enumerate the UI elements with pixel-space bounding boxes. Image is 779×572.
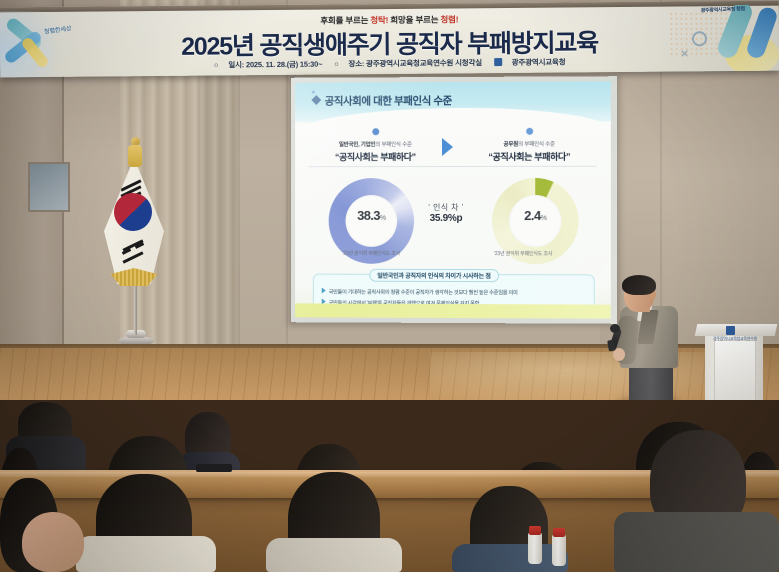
slide-note-bullet-1-text: 국민들이 기대하는 공직사회의 청렴 수준이 공직자가 생각하는 것보다 훨씬 … (329, 290, 518, 297)
donut-value-unit-left: % (380, 215, 386, 222)
right-column-subtitle: 공무원의 부패인식 수준 (454, 140, 605, 148)
donut-value-number-left: 38.3 (357, 208, 380, 223)
flag-tassel (128, 145, 142, 167)
slide-title: 공직사회에 대한 부패인식 수준 (325, 93, 452, 108)
banner-bullet-icon: ○ (334, 59, 338, 68)
bottle-cap-icon (529, 526, 541, 535)
perception-gap-block: ‘ 인식 차 ’ 35.9%p (416, 202, 476, 224)
perception-gap-label: ‘ 인식 차 ’ (416, 202, 476, 213)
event-banner: 청렴한세상 ✕ 광주광역시교육청 청렴 후회를 부르는 청탁! 희망을 부르는 … (0, 1, 779, 78)
presentation-slide: 공직사회에 대한 부패인식 수준 일반국민, 기업인의 부패인식 수준 “공직사… (295, 81, 611, 318)
dot-icon (526, 128, 533, 135)
presenter-hair (622, 275, 656, 295)
audience-person-body-front (76, 536, 216, 572)
audience-person-hand-front (22, 512, 84, 572)
microphone-head-icon (610, 324, 620, 333)
banner-organizer: 광주광역시교육청 (512, 57, 566, 66)
slide-column-right: 공무원의 부패인식 수준 “공직사회는 부패하다” (454, 128, 605, 163)
water-bottle (528, 532, 542, 564)
organization-logo-icon (494, 58, 502, 66)
donut-caption-right: '23년 권익위 부패인식도 조사 (458, 250, 589, 257)
greater-than-arrow-icon (442, 138, 453, 156)
banner-bullet-icon: ○ (214, 60, 218, 69)
projection-screen: 공직사회에 대한 부패인식 수준 일반국민, 기업인의 부패인식 수준 “공직사… (291, 76, 617, 324)
donut-value-left: 38.3% (329, 208, 414, 223)
donut-value-right: 2.4% (492, 208, 578, 223)
donut-value-unit-right: % (541, 215, 547, 222)
banner-subtitle-part1: 후회를 부르는 (320, 15, 370, 25)
slide-footer-band (295, 303, 611, 318)
right-column-subject-suffix: 의 부패인식 수준 (518, 142, 555, 148)
podium-logo-icon (726, 326, 735, 335)
slide-divider (309, 166, 597, 167)
donut-caption-left: '23년 권익위 부패인식도 조사 (307, 250, 436, 257)
podium-top (695, 324, 778, 336)
slide-column-left: 일반국민, 기업인의 부패인식 수준 “공직사회는 부패하다” (301, 128, 450, 163)
right-column-statement: “공직사회는 부패하다” (454, 150, 605, 163)
bottle-cap-icon (553, 528, 565, 537)
slide-note-title: 일반국민과 공직자의 인식의 차이가 시사하는 점 (369, 269, 498, 282)
podium-org-text: 광주광역시교육청교육연수원 (706, 336, 764, 342)
audience-device (196, 464, 232, 472)
water-bottle (552, 534, 566, 566)
banner-subtitle-highlight1: 청탁! (370, 15, 388, 25)
donut-value-number-right: 2.4 (524, 208, 540, 223)
left-column-statement: “공직사회는 부패하다” (301, 150, 450, 163)
lecture-hall-photo: 청렴한세상 ✕ 광주광역시교육청 청렴 후회를 부르는 청탁! 희망을 부르는 … (0, 0, 779, 572)
banner-subtitle-highlight2: 청렴! (440, 14, 458, 24)
left-column-subtitle: 일반국민, 기업인의 부패인식 수준 (301, 140, 450, 148)
triangle-bullet-icon (322, 288, 326, 294)
right-column-subject: 공무원 (503, 142, 518, 148)
podium-front-panel (714, 340, 756, 404)
left-column-subject-suffix: 의 부패인식 수준 (375, 142, 411, 148)
perception-gap-value: 35.9%p (416, 213, 476, 224)
banner-subtitle-part2: 희망을 부르는 (388, 15, 440, 25)
dot-icon (372, 128, 379, 135)
banner-date: 일시: 2025. 11. 28.(금) 15:30~ (228, 60, 322, 70)
audience-person-body-front (614, 512, 779, 572)
audience-person-body-front (266, 538, 402, 572)
sparkle-icon (312, 91, 315, 94)
banner-place: 장소: 광주광역시교육청교육연수원 시청각실 (348, 58, 481, 68)
slide-note-bullet-1: 국민들이 기대하는 공직사회의 청렴 수준이 공직자가 생각하는 것보다 훨씬 … (322, 288, 518, 297)
audience-person-body-front (452, 544, 568, 572)
left-column-subject: 일반국민, 기업인 (339, 142, 375, 148)
wall-vent (28, 162, 70, 212)
